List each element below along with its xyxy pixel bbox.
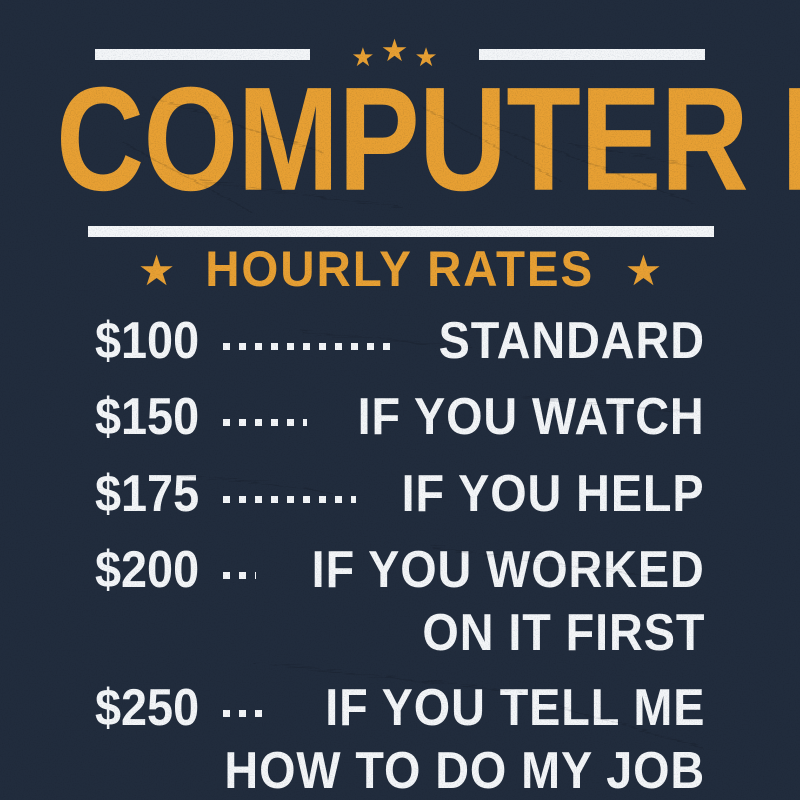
rate-price: $250: [95, 677, 199, 740]
rate-line: $175 IF YOU HELP: [95, 459, 705, 526]
rate-label-continuation: HOW TO DO MY JOB: [95, 741, 705, 800]
rate-row: $200 IF YOU WORKED ON IT FIRST: [95, 535, 705, 664]
rate-line: $250 IF YOU TELL ME: [95, 673, 705, 740]
subtitle-label: HOURLY RATES: [206, 244, 595, 294]
rate-line: $150 IF YOU WATCH: [95, 382, 705, 449]
rate-label: IF YOU TELL ME: [325, 677, 705, 740]
rate-label: IF YOU WORKED: [312, 539, 705, 602]
star-icon: ★: [138, 250, 176, 292]
rate-row: $175 IF YOU HELP: [95, 459, 705, 526]
rate-row: $250 IF YOU TELL ME HOW TO DO MY JOB: [95, 673, 705, 800]
rate-price: $100: [95, 310, 199, 373]
rate-price: $150: [95, 386, 199, 449]
rate-line: $100 STANDARD: [95, 306, 705, 373]
rate-row: $150 IF YOU WATCH: [95, 382, 705, 449]
rate-leader-dots: [215, 459, 365, 511]
poster-canvas: ★ ★ ★ COMPUTER PROGRAMMER ★ HOURLY RATES…: [0, 0, 800, 800]
star-icon: ★: [625, 250, 663, 292]
rate-line: $200 IF YOU WORKED: [95, 535, 705, 602]
rate-leader-dots: [215, 673, 279, 725]
rate-continuation-text: HOW TO DO MY JOB: [224, 741, 705, 800]
rate-list: $100 STANDARD $150 IF YOU WATCH $175 IF …: [95, 306, 705, 800]
rate-leader-dots: [215, 382, 316, 434]
rate-leader-dots: [215, 306, 405, 358]
rate-label: IF YOU HELP: [402, 463, 705, 526]
rate-price: $175: [95, 463, 199, 526]
rate-label: IF YOU WATCH: [358, 386, 705, 449]
rate-row: $100 STANDARD: [95, 306, 705, 373]
rate-leader-dots: [215, 535, 265, 587]
rate-price: $200: [95, 539, 199, 602]
rate-label-continuation: ON IT FIRST: [95, 603, 705, 664]
rate-label: STANDARD: [439, 310, 705, 373]
rate-continuation-text: ON IT FIRST: [422, 603, 705, 664]
poster-subtitle: ★ HOURLY RATES ★: [0, 244, 800, 294]
title-divider: [88, 226, 714, 237]
poster-title: COMPUTER PROGRAMMER: [56, 66, 744, 214]
